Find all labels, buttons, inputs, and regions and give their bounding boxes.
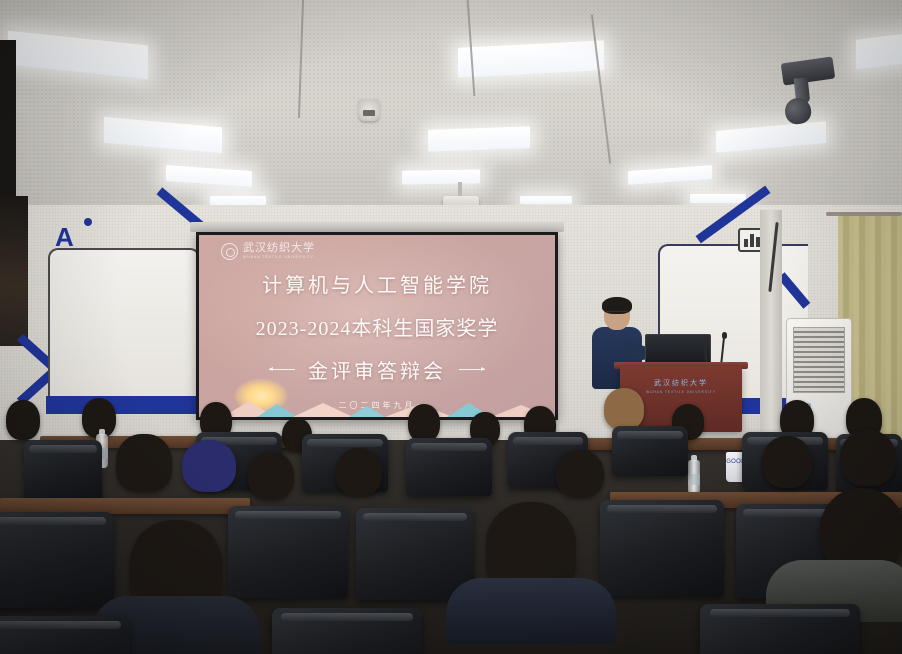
wall-pillar <box>760 210 782 450</box>
seat <box>0 512 114 608</box>
slide-logo-cn: 武汉纺织大学 <box>243 243 315 254</box>
slide-line-3: 金评审答辩会 <box>308 355 446 384</box>
slide-mountain <box>349 406 385 417</box>
audience-head <box>604 388 644 430</box>
seat <box>24 440 102 502</box>
left-wall-panel <box>48 248 200 414</box>
slide-university-logo: 武汉纺织大学 WUHAN TEXTILE UNIVERSITY <box>221 243 315 260</box>
podium-brand-cn: 武汉纺织大学 <box>620 378 742 388</box>
audience-head <box>116 434 172 492</box>
ceiling-light <box>520 196 572 204</box>
audience-head <box>6 400 40 440</box>
slide-mountain <box>293 403 353 417</box>
microphone-head <box>722 332 727 339</box>
seat <box>406 438 492 496</box>
seat <box>356 508 474 600</box>
slide-dash-right <box>459 369 485 370</box>
audience-head <box>248 452 294 500</box>
ceiling-light <box>210 196 266 205</box>
seat <box>0 616 130 654</box>
projection-screen: 武汉纺织大学 WUHAN TEXTILE UNIVERSITY 计算机与人工智能… <box>199 235 555 417</box>
ceiling-light <box>428 126 530 152</box>
projection-screen-frame: 武汉纺织大学 WUHAN TEXTILE UNIVERSITY 计算机与人工智能… <box>196 232 558 420</box>
microphone-head <box>704 336 709 343</box>
audience-head <box>762 436 812 488</box>
screen-valance <box>190 222 564 232</box>
seat <box>700 604 860 654</box>
seat <box>228 506 348 598</box>
audience-head <box>556 450 604 498</box>
conference-hall-scene: A 名 <box>0 0 902 654</box>
smoke-detector <box>358 99 380 121</box>
slide-dash-left <box>269 369 295 370</box>
ceiling <box>0 0 902 232</box>
university-logo-mark-icon <box>221 243 238 260</box>
audience-head <box>336 448 382 496</box>
ceiling-light <box>690 194 746 203</box>
ceiling-light <box>402 169 480 184</box>
left-dark-poster <box>0 196 28 346</box>
audience-head <box>182 440 236 492</box>
slide-mountain <box>257 404 297 417</box>
ac-grill <box>793 327 845 393</box>
audience-shoulders <box>446 578 616 644</box>
slide-line-1: 计算机与人工智能学院 <box>199 269 555 298</box>
audience-head <box>840 430 896 486</box>
seat <box>272 608 422 654</box>
audience-head <box>408 404 440 442</box>
left-panel-footer-bar <box>46 396 204 414</box>
water-bottle <box>688 460 700 494</box>
speaker-glasses <box>606 311 628 316</box>
seat <box>612 426 688 476</box>
left-dark-column <box>0 40 16 210</box>
ceiling-light <box>856 32 902 69</box>
slide-line-2: 2023-2024本科生国家奖学 <box>199 312 555 341</box>
ai-letter-i-dot <box>84 218 92 226</box>
slide-logo-en: WUHAN TEXTILE UNIVERSITY <box>243 256 315 260</box>
bottle-label <box>688 474 700 485</box>
seat <box>600 500 724 596</box>
